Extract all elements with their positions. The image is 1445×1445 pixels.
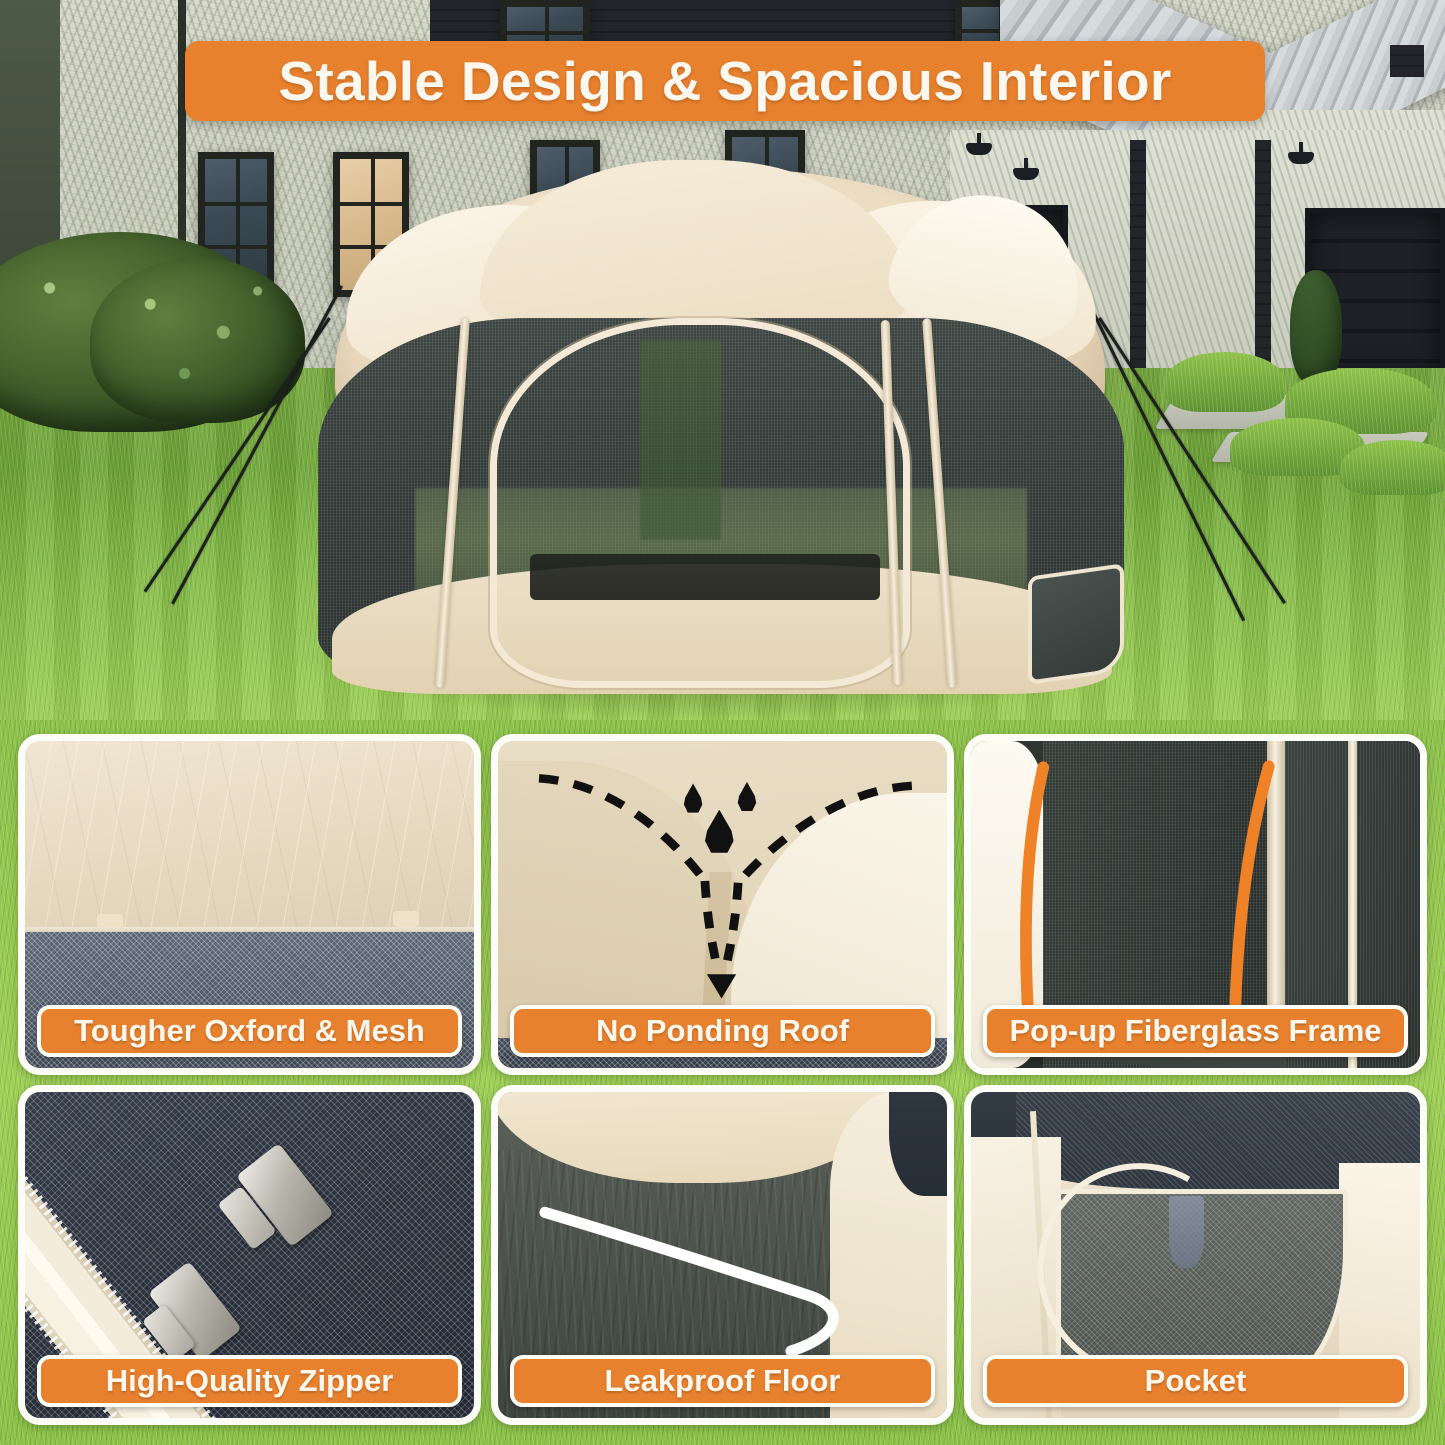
oxford-fabric-area <box>25 741 474 930</box>
page-title: Stable Design & Spacious Interior <box>278 49 1171 113</box>
feature-label-pill: Pop-up Fiberglass Frame <box>983 1005 1408 1057</box>
product-infographic: Stable Design & Spacious Interior Toughe… <box>0 0 1445 1445</box>
window-mullion <box>205 202 267 206</box>
feature-label-text: Pop-up Fiberglass Frame <box>1009 1013 1381 1049</box>
feature-label-text: No Ponding Roof <box>596 1013 849 1049</box>
feature-label-text: Leakproof Floor <box>605 1363 841 1399</box>
feature-label-text: High-Quality Zipper <box>106 1363 394 1399</box>
ornamental-grass <box>1165 352 1285 412</box>
orange-highlight-right <box>1235 767 1269 1031</box>
window-mullion <box>205 245 267 249</box>
dashed-flow-line-down-right <box>726 883 738 965</box>
title-banner: Stable Design & Spacious Interior <box>185 41 1265 121</box>
white-highlight-curve <box>545 1212 834 1351</box>
conifer-shrub <box>1290 270 1342 385</box>
feature-label-text: Pocket <box>1145 1363 1247 1399</box>
feature-label-pill: Leakproof Floor <box>510 1355 935 1407</box>
screen-tent <box>280 168 1160 688</box>
wall-sconce-icon <box>1288 152 1314 164</box>
feature-label-pill: No Ponding Roof <box>510 1005 935 1057</box>
feature-card-pop-up-fiberglass-frame[interactable]: Pop-up Fiberglass Frame <box>964 734 1427 1075</box>
fabric-tab <box>393 911 419 927</box>
feature-label-pill: Tougher Oxford & Mesh <box>37 1005 462 1057</box>
feature-card-pocket[interactable]: Pocket <box>964 1085 1427 1426</box>
garage-pillar-2 <box>1255 140 1271 380</box>
dashed-flow-line-left <box>539 778 705 881</box>
hero-image: Stable Design & Spacious Interior <box>0 0 1445 720</box>
tent-door-opening <box>490 318 910 688</box>
tent-side-window <box>1028 563 1124 684</box>
wall-sconce-icon <box>966 143 992 155</box>
down-arrow-icon <box>707 974 736 998</box>
window-mullion <box>507 31 583 35</box>
feature-card-tougher-oxford-mesh[interactable]: Tougher Oxford & Mesh <box>18 734 481 1075</box>
feature-card-high-quality-zipper[interactable]: High-Quality Zipper <box>18 1085 481 1426</box>
dashed-flow-line-down-left <box>705 881 717 965</box>
feature-card-no-ponding-roof[interactable]: No Ponding Roof <box>491 734 954 1075</box>
ornamental-grass <box>1340 440 1445 495</box>
feature-card-leakproof-floor[interactable]: Leakproof Floor <box>491 1085 954 1426</box>
orange-highlight-left <box>1026 768 1043 1005</box>
roof-vent <box>1390 45 1424 77</box>
feature-label-pill: High-Quality Zipper <box>37 1355 462 1407</box>
feature-label-text: Tougher Oxford & Mesh <box>74 1013 425 1049</box>
feature-label-pill: Pocket <box>983 1355 1408 1407</box>
dashed-flow-line-right <box>738 786 912 883</box>
feature-grid: Tougher Oxford & Mesh <box>0 720 1445 1445</box>
